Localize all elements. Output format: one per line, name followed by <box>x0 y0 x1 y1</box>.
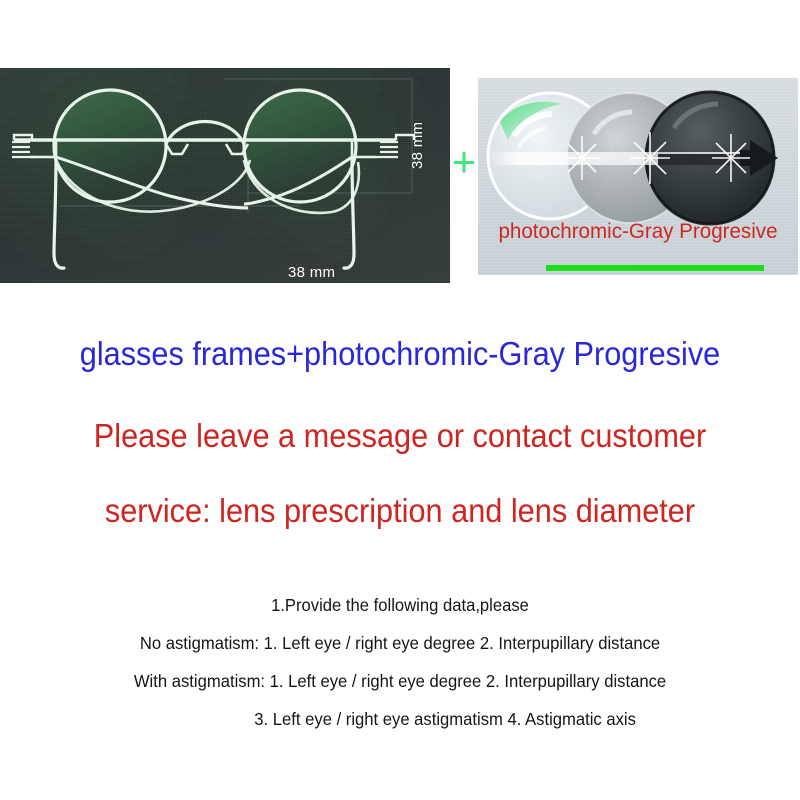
product-title-blue: glasses frames+photochromic-Gray Progres… <box>28 332 772 376</box>
instruction-line-2: No astigmatism: 1. Left eye / right eye … <box>20 624 780 662</box>
contact-instruction-line-2: service: lens prescription and lens diam… <box>28 489 772 533</box>
horizontal-measurement-label: 38 mm <box>288 264 335 281</box>
plus-symbol-icon: + <box>450 148 478 178</box>
contact-instruction-line-1: Please leave a message or contact custom… <box>28 414 772 458</box>
instruction-line-1: 1.Provide the following data,please <box>20 586 780 624</box>
eyeglass-frame-photo: 38 mm 38 mm <box>0 68 450 283</box>
prescription-instructions-block: 1.Provide the following data,please No a… <box>0 586 800 738</box>
vertical-measurement-label: 38 mm <box>409 89 426 169</box>
lens-type-label: photochromic-Gray Progresive <box>486 220 790 244</box>
lens-label-underline-accent <box>546 265 764 271</box>
photochromic-lens-illustration <box>478 78 798 275</box>
product-image-strip: 38 mm 38 mm + <box>0 0 800 300</box>
eyeglass-frame-illustration <box>0 68 450 283</box>
instruction-line-4: 3. Left eye / right eye astigmatism 4. A… <box>20 700 780 738</box>
photochromic-lens-panel: photochromic-Gray Progresive <box>478 78 798 275</box>
instruction-line-3: With astigmatism: 1. Left eye / right ey… <box>20 662 780 700</box>
